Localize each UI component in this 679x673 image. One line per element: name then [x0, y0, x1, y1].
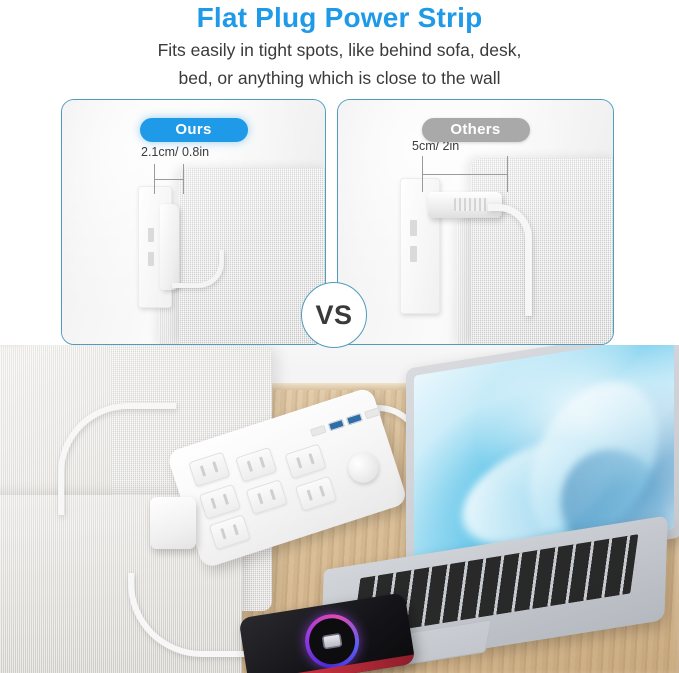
bulky-plug-cable — [488, 204, 532, 316]
subtitle-line-1: Fits easily in tight spots, like behind … — [0, 35, 679, 63]
comparison-panel-ours: 2.1cm/ 0.8in Ours — [61, 99, 326, 345]
outlet-slot-bottom — [148, 252, 154, 266]
socket — [199, 484, 241, 520]
badge-others: Others — [422, 118, 530, 142]
socket — [246, 479, 288, 515]
header: Flat Plug Power Strip Fits easily in tig… — [0, 0, 679, 92]
charging-indicator-ring — [301, 610, 363, 672]
measurement-bracket — [422, 156, 508, 192]
bracket-line-span — [422, 174, 508, 175]
socket — [235, 447, 277, 483]
measurement-bracket — [154, 164, 184, 194]
socket — [284, 443, 326, 479]
phone-charging-cable — [0, 345, 22, 369]
lifestyle-scene — [0, 345, 679, 673]
outlet-slot-top — [410, 220, 417, 236]
product-marketing-image: Flat Plug Power Strip Fits easily in tig… — [0, 0, 679, 673]
bracket-line-span — [154, 179, 184, 180]
subtitle-line-2: bed, or anything which is close to the w… — [0, 63, 679, 91]
outlet-slot-top — [148, 228, 154, 242]
comparison-panel-others: 5cm/ 2in Others — [337, 99, 614, 345]
page-title: Flat Plug Power Strip — [0, 0, 679, 35]
badge-ours: Ours — [140, 118, 248, 142]
vs-badge: VS — [301, 282, 367, 348]
comparison-section: 2.1cm/ 0.8in Ours 5cm/ 2in Others VS — [0, 99, 679, 347]
outlet-slot-bottom — [410, 246, 417, 262]
power-adapter — [150, 497, 196, 549]
dimension-label-ours: 2.1cm/ 0.8in — [141, 145, 209, 159]
